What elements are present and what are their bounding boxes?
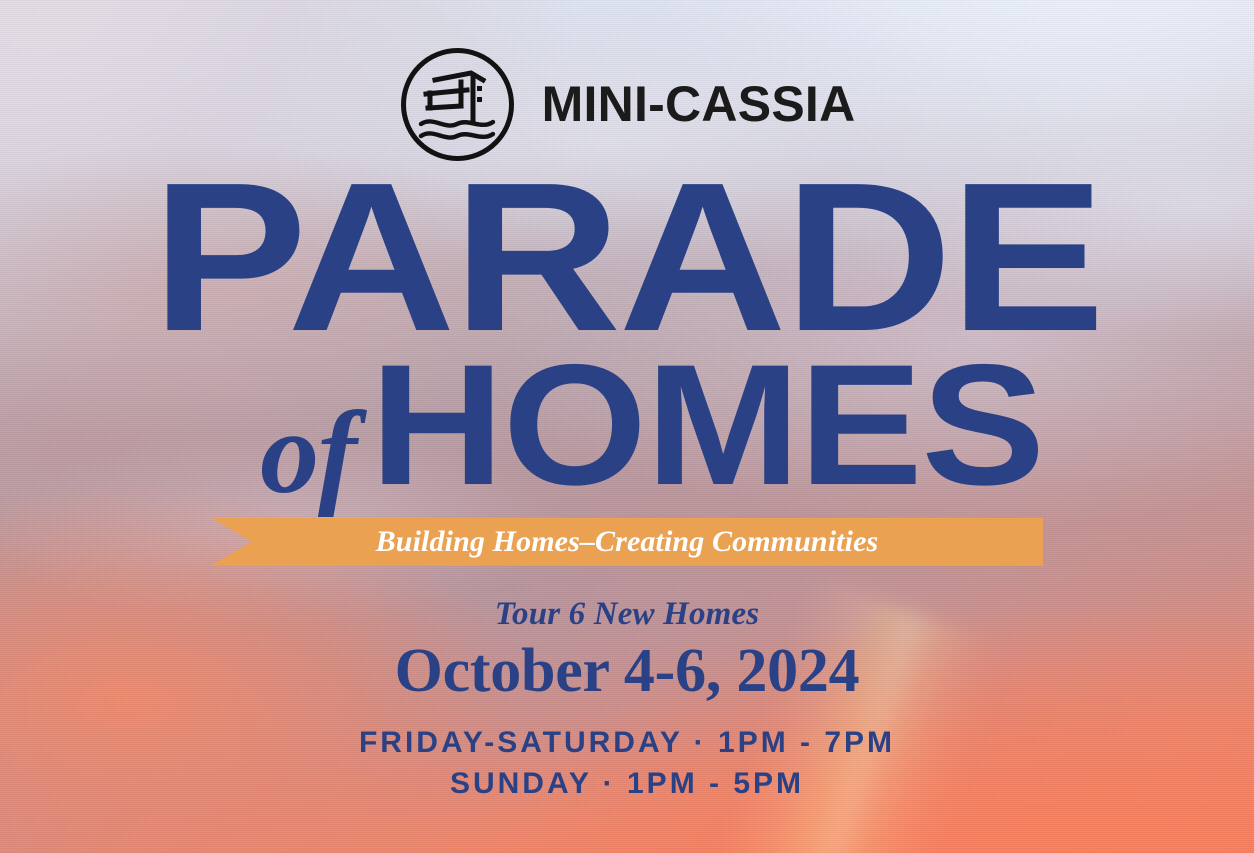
hours-line-weekday: FRIDAY-SATURDAY · 1PM - 7PM [359,722,895,763]
hours-line-sunday: SUNDAY · 1PM - 5PM [450,763,804,804]
parade-of-homes-poster: MINI-CASSIA PARADE of HOMES Building Hom… [0,0,1254,853]
headline-parade: PARADE [152,172,1103,342]
tagline-text: Building Homes–Creating Communities [376,527,879,557]
poster-content: MINI-CASSIA PARADE of HOMES Building Hom… [0,0,1254,853]
tour-subtitle: Tour 6 New Homes [495,598,760,631]
headline-connector-of: of [260,411,356,496]
brand-wordmark: MINI-CASSIA [542,79,856,129]
headline-homes: HOMES [370,358,1044,492]
event-date: October 4-6, 2024 [395,640,860,702]
tagline-ribbon: Building Homes–Creating Communities [211,518,1043,566]
headline-of-homes-row: of HOMES [260,358,994,492]
